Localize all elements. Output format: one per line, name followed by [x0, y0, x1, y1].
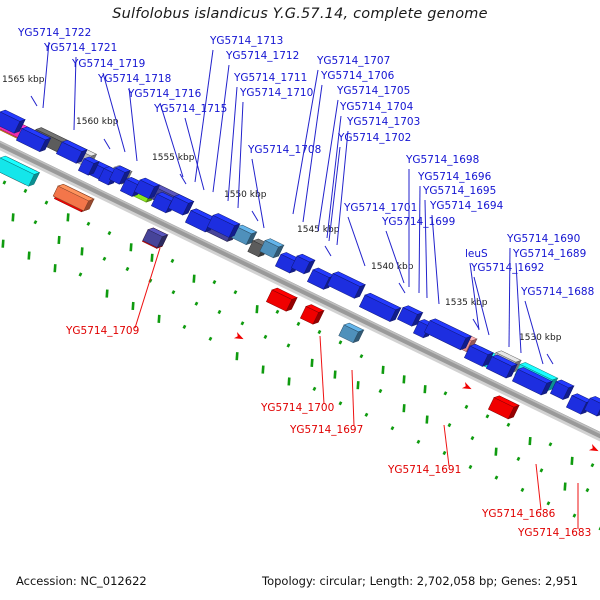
- rna-tick-mark: [255, 305, 258, 313]
- gene-label[interactable]: YG5714_1716: [127, 88, 202, 100]
- rna-tick-mark: [105, 290, 108, 298]
- gene-label[interactable]: YG5714_1706: [320, 70, 395, 82]
- rna-tick-mark: [391, 426, 395, 430]
- rna-tick: [486, 414, 490, 418]
- rna-tick-mark: [157, 315, 160, 323]
- rna-tick-mark: [379, 389, 383, 393]
- rna-tick: [339, 340, 343, 344]
- rna-tick-mark: [417, 440, 421, 444]
- rna-tick: [78, 246, 87, 256]
- rna-tick: [540, 468, 544, 472]
- rna-tick: [276, 310, 280, 314]
- rna-tick-mark: [425, 416, 428, 424]
- rna-tick-mark: [218, 310, 222, 314]
- rna-tick-mark: [495, 476, 499, 480]
- rna-tick-mark: [313, 387, 317, 391]
- scale-tick-label: 1540 kbp: [371, 262, 414, 272]
- rna-tick: [287, 343, 291, 347]
- rna-tick: [233, 351, 242, 361]
- label-leader-line: [348, 217, 365, 266]
- rna-tick: [103, 257, 107, 261]
- rna-tick-mark: [586, 488, 590, 492]
- rna-tick: [421, 384, 430, 394]
- red-arrow-glyph: [589, 444, 600, 454]
- gene-label[interactable]: YG5714_1722: [17, 27, 91, 39]
- rna-tick: [213, 280, 217, 284]
- rna-tick: [573, 514, 577, 518]
- gene-label[interactable]: YG5714_1705: [336, 85, 410, 97]
- rna-tick: [444, 391, 448, 395]
- footer-divider: [0, 556, 600, 557]
- rna-tick-mark: [521, 488, 525, 492]
- rna-tick: [285, 377, 294, 387]
- rna-tick: [0, 239, 7, 249]
- scale-tick-mark: [252, 211, 258, 221]
- label-leader-line: [432, 215, 439, 304]
- gene-label[interactable]: YG5714_1702: [337, 132, 411, 144]
- rna-tick-mark: [318, 330, 322, 334]
- rna-tick-mark: [381, 366, 384, 374]
- rna-tick-mark: [3, 180, 7, 184]
- rna-tick-mark: [126, 267, 130, 271]
- gene-feature[interactable]: [424, 317, 471, 352]
- rna-tick-mark: [402, 404, 405, 412]
- gene-label[interactable]: YG5714_1699: [381, 216, 455, 228]
- rna-tick: [360, 354, 364, 358]
- rna-tick: [423, 415, 432, 425]
- rna-tick: [591, 463, 595, 467]
- rna-tick-mark: [27, 252, 30, 260]
- rna-tick: [568, 456, 577, 466]
- rna-tick: [547, 501, 551, 505]
- rna-tick: [465, 405, 469, 409]
- rna-tick: [51, 263, 60, 273]
- gene-label[interactable]: YG5714_1689: [512, 248, 586, 260]
- rna-tick-mark: [549, 442, 553, 446]
- rna-tick: [3, 180, 7, 184]
- rna-tick: [195, 302, 199, 306]
- red-arrow-icon: [462, 382, 473, 392]
- rna-tick: [331, 370, 340, 380]
- rna-tick-mark: [24, 189, 28, 193]
- rna-tick-mark: [360, 354, 364, 358]
- rna-tick: [391, 426, 395, 430]
- rna-tick: [64, 212, 73, 222]
- gene-label[interactable]: YG5714_1692: [470, 262, 544, 274]
- rna-tick-mark: [444, 391, 448, 395]
- rna-tick: [318, 330, 322, 334]
- rna-tick-mark: [1, 240, 4, 248]
- rna-tick: [561, 482, 570, 492]
- rna-tick: [507, 423, 511, 427]
- label-leader-line: [425, 200, 427, 298]
- rna-tick: [127, 242, 136, 252]
- rna-tick: [586, 488, 590, 492]
- rna-tick: [87, 222, 91, 226]
- gene-label[interactable]: YG5714_1701: [343, 202, 417, 214]
- rna-tick: [354, 380, 363, 390]
- gene-label[interactable]: YG5714_1694: [429, 200, 504, 212]
- rna-tick: [313, 387, 317, 391]
- rna-tick-mark: [339, 401, 343, 405]
- rna-tick-mark: [195, 302, 199, 306]
- rna-tick-mark: [183, 325, 187, 329]
- rna-tick: [172, 290, 176, 294]
- rna-tick: [417, 440, 421, 444]
- rna-tick-mark: [34, 220, 38, 224]
- label-leader-line: [135, 248, 160, 328]
- gene-label[interactable]: YG5714_1713: [209, 35, 283, 47]
- gene-feature[interactable]: [291, 252, 315, 275]
- rna-tick-mark: [486, 414, 490, 418]
- rna-tick: [79, 272, 83, 276]
- gene-label[interactable]: YG5714_1695: [422, 185, 496, 197]
- rna-tick-mark: [171, 259, 175, 263]
- rna-tick-mark: [87, 222, 91, 226]
- rna-tick-mark: [333, 371, 336, 379]
- gene-label[interactable]: YG5714_1704: [339, 101, 414, 113]
- rna-tick-mark: [494, 448, 497, 456]
- rna-tick-mark: [356, 381, 359, 389]
- scale-tick-mark: [325, 246, 331, 256]
- rna-tick: [365, 413, 369, 417]
- gene-label[interactable]: YG5714_1712: [225, 50, 299, 62]
- rna-tick-mark: [241, 321, 245, 325]
- rna-tick-mark: [79, 272, 83, 276]
- gene-label[interactable]: YG5714_1709: [65, 325, 139, 337]
- rna-tick-mark: [261, 366, 264, 374]
- rna-tick-mark: [264, 335, 268, 339]
- scale-tick-mark: [547, 354, 553, 364]
- label-leader-line: [195, 50, 213, 182]
- label-leader-line: [419, 186, 420, 293]
- rna-tick: [171, 259, 175, 263]
- gene-label[interactable]: YG5714_1715: [153, 103, 227, 115]
- genome-map-viewer: Sulfolobus islandicus Y.G.57.14, complet…: [0, 0, 600, 600]
- rna-tick-mark: [402, 375, 405, 383]
- gene-label[interactable]: YG5714_1711: [233, 72, 307, 84]
- rna-tick-mark: [57, 236, 60, 244]
- red-arrow-icon: [234, 332, 245, 342]
- rna-tick-mark: [53, 264, 56, 272]
- rna-tick: [264, 335, 268, 339]
- scale-tick-mark: [399, 283, 405, 293]
- scale-tick-label: 1530 kbp: [519, 333, 562, 343]
- rna-tick: [259, 365, 268, 375]
- rna-tick-mark: [192, 275, 195, 283]
- rna-tick-mark: [547, 501, 551, 505]
- rna-tick: [308, 358, 317, 368]
- rna-tick: [45, 201, 49, 205]
- rna-tick-mark: [103, 257, 107, 261]
- gene-label[interactable]: YG5714_1721: [43, 42, 117, 54]
- gene-label[interactable]: YG5714_1690: [506, 233, 580, 245]
- gene-label[interactable]: YG5714_1719: [71, 58, 145, 70]
- scale-tick-mark: [104, 139, 110, 149]
- rna-tick-mark: [287, 343, 291, 347]
- scale-tick-label: 1560 kbp: [76, 117, 119, 127]
- rna-tick: [24, 189, 28, 193]
- rna-tick-mark: [507, 423, 511, 427]
- rna-tick: [108, 231, 112, 235]
- rna-tick: [103, 289, 112, 299]
- rna-tick-mark: [465, 405, 469, 409]
- gene-feature[interactable]: [300, 303, 324, 326]
- scale-tick-label: 1550 kbp: [224, 190, 267, 200]
- rna-tick-mark: [443, 451, 447, 455]
- gene-label[interactable]: YG5714_1688: [520, 286, 594, 298]
- rna-tick: [549, 442, 553, 446]
- rna-tick-mark: [209, 337, 213, 341]
- rna-tick: [253, 304, 262, 314]
- rna-tick: [526, 436, 535, 446]
- rna-tick-mark: [517, 457, 521, 461]
- topology-text: Topology: circular; Length: 2,702,058 bp…: [262, 574, 578, 588]
- rna-tick: [241, 321, 245, 325]
- rna-tick-mark: [150, 254, 153, 262]
- label-leader-line: [337, 131, 348, 245]
- label-leader-line: [228, 87, 237, 201]
- rna-tick-mark: [234, 290, 238, 294]
- label-leader-line: [213, 65, 229, 192]
- rna-tick-mark: [310, 359, 313, 367]
- gene-label[interactable]: YG5714_1683: [517, 527, 591, 539]
- rna-tick: [234, 290, 238, 294]
- gene-label[interactable]: YG5714_1708: [247, 144, 321, 156]
- gene-feature[interactable]: [16, 125, 50, 153]
- gene-label[interactable]: YG5714_1707: [316, 55, 390, 67]
- label-leader-line: [352, 370, 354, 426]
- rna-tick-mark: [213, 280, 217, 284]
- rna-tick: [9, 212, 18, 222]
- rna-tick-mark: [297, 322, 301, 326]
- gene-label[interactable]: leuS: [465, 248, 488, 260]
- gene-label[interactable]: YG5714_1718: [97, 73, 171, 85]
- rna-tick: [495, 476, 499, 480]
- rna-tick-mark: [540, 468, 544, 472]
- gene-feature[interactable]: [327, 270, 365, 300]
- rna-tick: [155, 314, 164, 324]
- rna-tick: [55, 235, 64, 245]
- rna-tick: [471, 436, 475, 440]
- rna-tick-mark: [423, 385, 426, 393]
- rna-tick-mark: [276, 310, 280, 314]
- rna-tick-mark: [469, 465, 473, 469]
- rna-tick: [297, 322, 301, 326]
- scale-tick-label: 1555 kbp: [152, 153, 195, 163]
- rna-tick: [218, 310, 222, 314]
- rna-tick-mark: [339, 340, 343, 344]
- rna-tick: [129, 301, 138, 311]
- rna-tick: [469, 465, 473, 469]
- gene-label[interactable]: YG5714_1703: [346, 116, 420, 128]
- rna-tick: [183, 325, 187, 329]
- gene-label[interactable]: YG5714_1710: [239, 87, 313, 99]
- rna-tick: [400, 403, 409, 413]
- rna-tick: [448, 423, 452, 427]
- gene-label[interactable]: YG5714_1696: [417, 171, 492, 183]
- gene-label[interactable]: YG5714_1686: [481, 508, 556, 520]
- label-leader-line: [386, 231, 404, 283]
- rna-tick: [379, 389, 383, 393]
- rna-tick-mark: [235, 352, 238, 360]
- rna-tick-mark: [287, 377, 290, 385]
- rna-tick-mark: [11, 213, 14, 221]
- rna-tick: [379, 365, 388, 375]
- rna-tick-mark: [66, 213, 69, 221]
- gene-label[interactable]: YG5714_1697: [289, 424, 363, 436]
- genome-map-canvas[interactable]: 1565 kbp1560 kbp1555 kbp1550 kbp1545 kbp…: [0, 0, 600, 556]
- rna-tick: [190, 274, 199, 284]
- gene-label[interactable]: YG5714_1700: [260, 402, 334, 414]
- label-leader-line: [320, 336, 324, 404]
- rna-tick-mark: [591, 463, 595, 467]
- rna-tick: [521, 488, 525, 492]
- rna-tick-mark: [45, 201, 49, 205]
- rna-tick: [517, 457, 521, 461]
- rna-tick-mark: [108, 231, 112, 235]
- rna-tick: [339, 401, 343, 405]
- rna-tick: [209, 337, 213, 341]
- scale-tick-label: 1565 kbp: [2, 75, 45, 85]
- rna-tick-mark: [528, 437, 531, 445]
- rna-tick: [148, 253, 157, 263]
- rna-tick-mark: [172, 290, 176, 294]
- rna-tick: [34, 220, 38, 224]
- rna-tick: [492, 447, 501, 457]
- rna-tick-mark: [80, 247, 83, 255]
- rna-tick: [400, 374, 409, 384]
- red-arrow-glyph: [234, 332, 245, 342]
- rna-tick-mark: [570, 457, 573, 465]
- rna-tick: [25, 251, 34, 261]
- red-arrow-icon: [589, 444, 600, 454]
- gene-label[interactable]: YG5714_1698: [405, 154, 479, 166]
- accession-text: Accession: NC_012622: [16, 574, 147, 588]
- label-leader-line: [444, 425, 449, 466]
- rna-tick-mark: [129, 243, 132, 251]
- rna-tick: [126, 267, 130, 271]
- red-arrow-glyph: [462, 382, 473, 392]
- rna-tick-mark: [563, 483, 566, 491]
- rna-tick-mark: [365, 413, 369, 417]
- footer-bar: Accession: NC_012622 Topology: circular;…: [0, 556, 600, 600]
- rna-tick: [443, 451, 447, 455]
- rna-tick-mark: [131, 302, 134, 310]
- rna-tick-mark: [573, 514, 577, 518]
- rna-tick-mark: [471, 436, 475, 440]
- gene-label[interactable]: YG5714_1691: [387, 464, 461, 476]
- scale-tick-mark: [31, 96, 37, 106]
- rna-tick-mark: [448, 423, 452, 427]
